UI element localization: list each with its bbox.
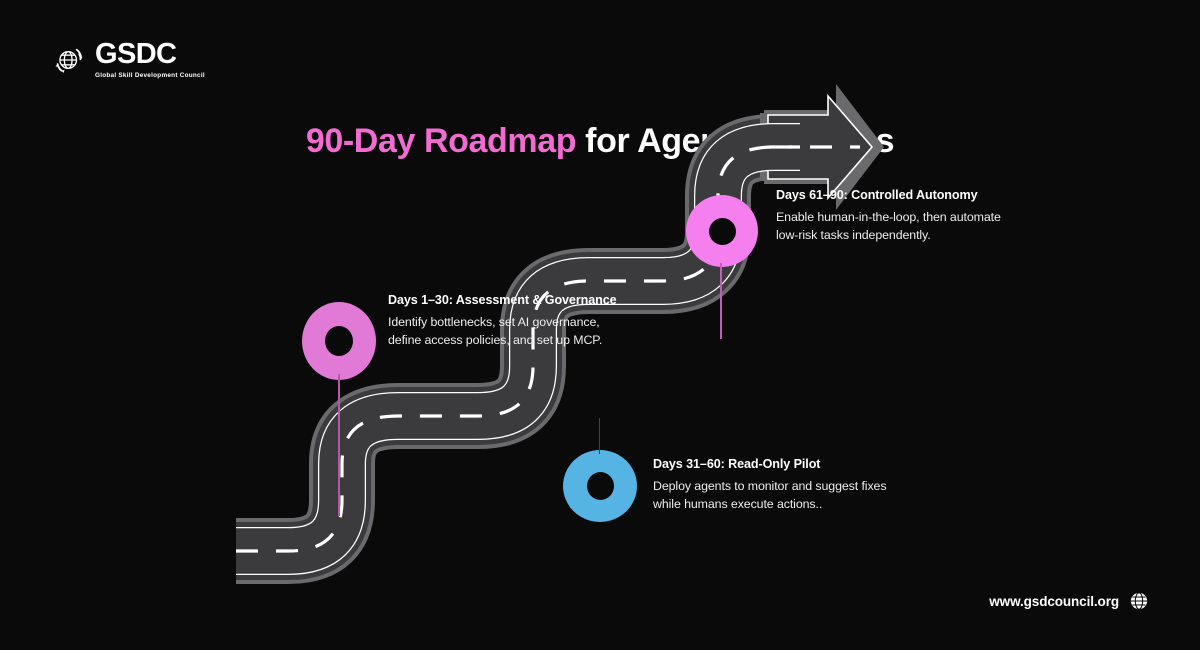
phase-marker-2[interactable] bbox=[563, 450, 637, 522]
phase-marker-1-ring bbox=[302, 302, 376, 380]
phase-callout-2-title: Days 31–60: Read-Only Pilot bbox=[653, 457, 886, 471]
phase-marker-3-hole bbox=[709, 218, 736, 245]
phase-callout-3-body: Enable human-in-the-loop, then automate … bbox=[776, 209, 1001, 245]
globe-icon bbox=[1130, 592, 1148, 610]
phase-marker-3[interactable] bbox=[686, 195, 758, 267]
phase-marker-3-stem bbox=[720, 263, 722, 339]
phase-marker-2-ring bbox=[563, 450, 637, 522]
phase-callout-1-title: Days 1–30: Assessment & Governance bbox=[388, 293, 617, 307]
footer: www.gsdcouncil.org bbox=[989, 592, 1148, 610]
phase-callout-1-body: Identify bottlenecks, set AI governance,… bbox=[388, 314, 617, 350]
phase-marker-2-stem bbox=[599, 418, 600, 454]
phase-marker-2-hole bbox=[587, 472, 614, 500]
phase-callout-2-body: Deploy agents to monitor and suggest fix… bbox=[653, 478, 886, 514]
footer-website-url[interactable]: www.gsdcouncil.org bbox=[989, 594, 1119, 609]
phase-callout-2: Days 31–60: Read-Only Pilot Deploy agent… bbox=[653, 457, 886, 514]
infographic-canvas: GSDC Global Skill Development Council 90… bbox=[0, 0, 1200, 650]
phase-marker-3-ring bbox=[686, 195, 758, 267]
phase-callout-3: Days 61–90: Controlled Autonomy Enable h… bbox=[776, 188, 1001, 245]
phase-marker-1[interactable] bbox=[302, 302, 376, 380]
phase-marker-1-hole bbox=[325, 326, 353, 356]
phase-marker-1-stem bbox=[338, 374, 340, 516]
phase-callout-3-title: Days 61–90: Controlled Autonomy bbox=[776, 188, 1001, 202]
phase-callout-1: Days 1–30: Assessment & Governance Ident… bbox=[388, 293, 617, 350]
